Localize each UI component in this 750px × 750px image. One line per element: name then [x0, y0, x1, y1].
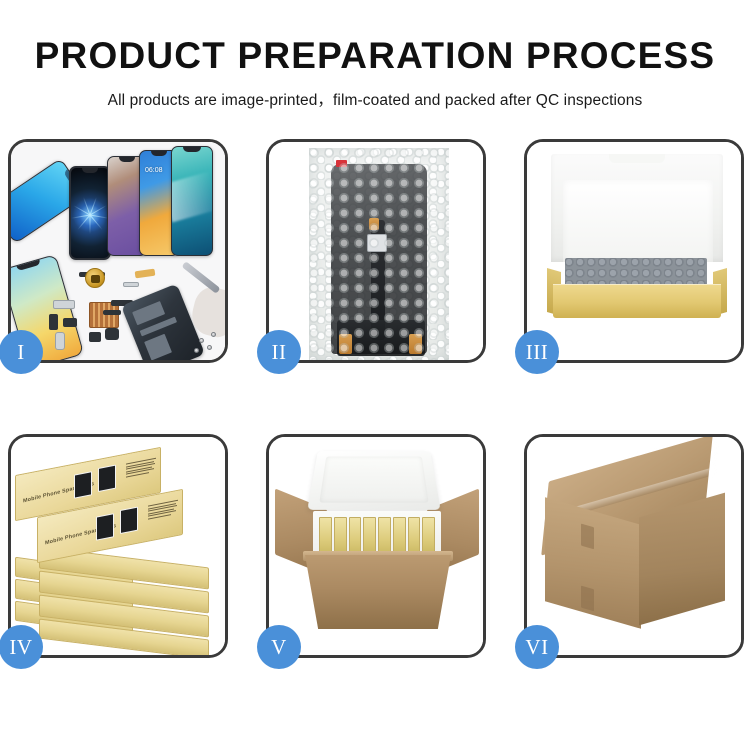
phone-teal-icon: [171, 146, 213, 256]
step-badge-4: IV: [0, 625, 43, 669]
step-panel-4[interactable]: Mobile Phone Spare Parts Mobile Phone Sp…: [8, 434, 228, 658]
step-panel-6[interactable]: VI: [524, 434, 744, 658]
part-speaker-coil: [85, 268, 105, 288]
step-image-2: [269, 142, 483, 360]
open-tray-box-scene: [527, 142, 741, 360]
header: PRODUCT PREPARATION PROCESS All products…: [0, 0, 750, 110]
yellow-boxes-row: [319, 517, 435, 555]
step-badge-3: III: [515, 330, 559, 374]
part-connector-a: [53, 300, 75, 309]
orange-tape-left: [339, 334, 352, 354]
phone-clock-label: 06:08: [145, 167, 163, 175]
box-screen-photo: [120, 507, 138, 534]
step-panel-2[interactable]: II: [266, 139, 486, 363]
step-image-1: 06:08: [11, 142, 225, 360]
open-carton-scene: [269, 437, 483, 655]
flex-connector: [367, 234, 387, 252]
wallpaper-glow: [73, 198, 107, 232]
stacked-boxes-scene: Mobile Phone Spare Parts Mobile Phone Sp…: [11, 437, 225, 655]
orange-tape-right: [409, 334, 422, 354]
step-panel-1[interactable]: 06:08: [8, 139, 228, 363]
product-preparation-infographic: PRODUCT PREPARATION PROCESS All products…: [0, 0, 750, 750]
carton-tape-tab: [581, 586, 594, 612]
part-screw: [194, 348, 199, 353]
carton-right-face: [639, 493, 725, 626]
carton-tape-tab: [581, 524, 594, 550]
page-title: PRODUCT PREPARATION PROCESS: [0, 36, 750, 77]
step-image-5: [269, 437, 483, 655]
carton-front-face: [305, 555, 451, 629]
part-gold-flex: [135, 269, 156, 279]
sealed-carton-scene: [527, 437, 741, 655]
orange-tape-top: [369, 218, 379, 230]
part-camera-module: [105, 328, 119, 340]
part-button-flex: [123, 282, 139, 287]
foam-lid-open: [307, 451, 440, 510]
part-screw: [207, 345, 212, 350]
part-sim-tray: [55, 332, 65, 350]
box-screen-photo: [74, 471, 92, 498]
box-screen-photo: [98, 465, 116, 492]
steps-grid: 06:08: [8, 139, 744, 658]
part-screw: [199, 338, 204, 343]
step-image-6: [527, 437, 741, 655]
step-image-3: [527, 142, 741, 360]
white-foam-lid: [551, 154, 723, 262]
page-subtitle: All products are image-printed，film-coat…: [0, 88, 750, 110]
part-connector-c: [63, 318, 77, 327]
gold-tray-front: [553, 284, 721, 318]
step-badge-1: I: [0, 330, 43, 374]
part-flex-strip-2: [103, 310, 121, 315]
part-screw: [211, 332, 216, 337]
bubble-wrap-scene: [269, 142, 483, 360]
red-qc-label: [336, 160, 347, 167]
step-badge-6: VI: [515, 625, 559, 669]
tweezers-tool-icon: [182, 261, 221, 294]
box-screen-photo: [96, 513, 114, 540]
step-image-4: Mobile Phone Spare Parts Mobile Phone Sp…: [11, 437, 225, 655]
step-panel-3[interactable]: III: [524, 139, 744, 363]
step-badge-2: II: [257, 330, 301, 374]
step-badge-5: V: [257, 625, 301, 669]
phone-parts-scene: 06:08: [11, 142, 225, 360]
part-connector-d: [89, 332, 101, 342]
step-panel-5[interactable]: V: [266, 434, 486, 658]
part-connector-b: [49, 314, 58, 330]
phone-front-screen-icon: [69, 166, 111, 260]
bubble-wrap-bag: [309, 148, 449, 360]
